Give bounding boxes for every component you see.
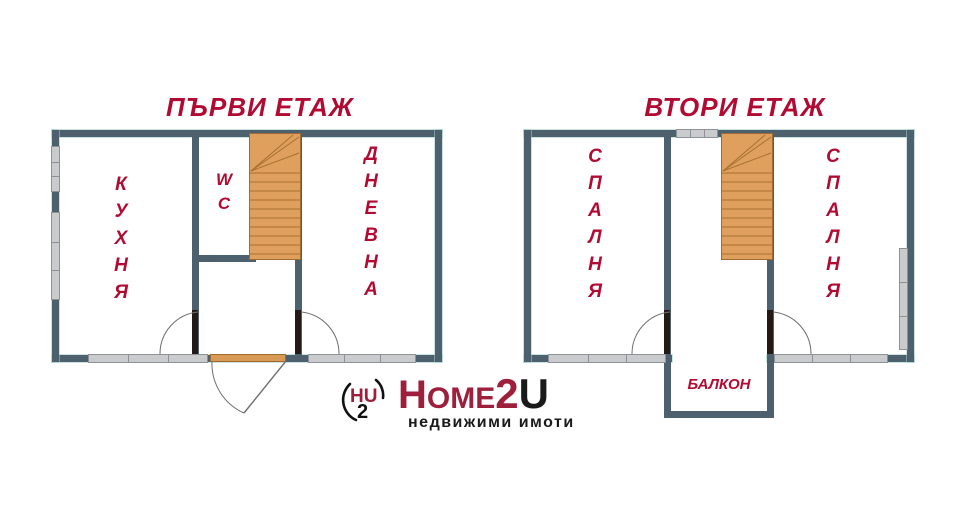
floor1-label-wc: W C bbox=[202, 168, 246, 216]
floor1-door-kitchen-swing bbox=[154, 310, 200, 358]
floor2-plan: БАЛКОН bbox=[524, 130, 914, 362]
floor1-door-living bbox=[291, 310, 337, 356]
h2u-badge-icon: HU 2 bbox=[336, 376, 392, 428]
floor1-window-left-b bbox=[51, 212, 60, 300]
floor2-wall-left bbox=[524, 130, 531, 362]
floor1-wall-top bbox=[52, 130, 442, 137]
logo-wordmark: HOME2U bbox=[398, 370, 549, 418]
floor1-stairs bbox=[249, 133, 301, 260]
floor1-wall-right bbox=[435, 130, 442, 362]
floor1-stairs-treads bbox=[249, 133, 301, 260]
floor1-label-kitchen: К У Х Н Я bbox=[98, 172, 144, 307]
floor1-title: ПЪРВИ ЕТАЖ bbox=[80, 92, 440, 123]
logo-word-2: 2 bbox=[495, 370, 518, 417]
logo-word-h: H bbox=[398, 373, 427, 417]
logo-word-ome: OME bbox=[427, 382, 495, 415]
floor2-label-bedroom-left: С П А Л Н Я bbox=[572, 144, 618, 306]
logo-word-u: U bbox=[519, 370, 549, 417]
floor2-stairs bbox=[721, 133, 773, 260]
logo-tagline: недвижими имоти bbox=[408, 414, 575, 432]
floor2-balcony-wall-bottom bbox=[664, 411, 774, 418]
floor2-title: ВТОРИ ЕТАЖ bbox=[555, 92, 915, 123]
floor2-wall-top bbox=[524, 130, 914, 137]
floor2-stairs-treads bbox=[721, 133, 773, 260]
floorplan-canvas: ПЪРВИ ЕТАЖ ВТОРИ ЕТАЖ bbox=[0, 0, 975, 521]
floor2-door-bedroom-right-swing bbox=[771, 310, 819, 358]
floor2-window-right bbox=[899, 248, 908, 350]
floor1-door-kitchen bbox=[188, 310, 234, 356]
floor1-window-left-a bbox=[51, 146, 60, 192]
floor2-door-bedroom-left-swing bbox=[626, 310, 672, 358]
floor1-plan: К У Х Н Я W C Д Н Е В Н А bbox=[52, 130, 442, 362]
floor2-label-balcony: БАЛКОН bbox=[664, 376, 774, 393]
floor1-entrance-door-swing bbox=[202, 361, 292, 423]
floor2-window-top-corridor bbox=[676, 129, 718, 138]
floor2-door-bedroom-right bbox=[763, 310, 809, 356]
floor2-wall-right bbox=[907, 130, 914, 362]
brand-logo: HU 2 HOME2U недвижими имоти bbox=[336, 372, 636, 434]
floor1-door-living-swing bbox=[299, 310, 347, 358]
svg-text:2: 2 bbox=[357, 401, 368, 423]
floor2-door-bedroom-left bbox=[660, 310, 706, 356]
floor1-label-living: Д Н Е В Н А bbox=[348, 142, 394, 304]
h2u-badge-svg: HU 2 bbox=[336, 376, 392, 428]
floor1-wc-wall bbox=[192, 255, 256, 262]
floor2-label-bedroom-right: С П А Л Н Я bbox=[810, 144, 856, 306]
